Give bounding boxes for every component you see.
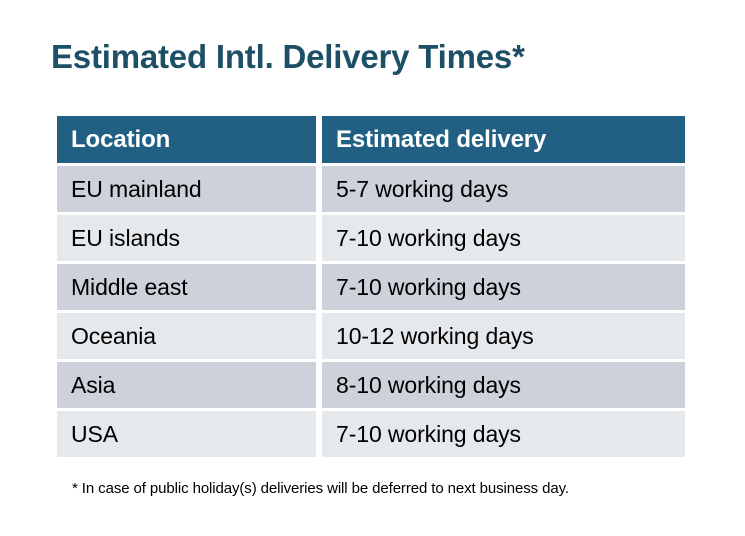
column-header-estimated-delivery: Estimated delivery — [322, 116, 685, 163]
cell-delivery: 10-12 working days — [322, 313, 685, 359]
cell-location: Asia — [57, 362, 316, 408]
table-row: Oceania 10-12 working days — [57, 313, 685, 359]
table-row: EU mainland 5-7 working days — [57, 166, 685, 212]
cell-location: EU islands — [57, 215, 316, 261]
table-row: EU islands 7-10 working days — [57, 215, 685, 261]
table-row: Asia 8-10 working days — [57, 362, 685, 408]
cell-location: Middle east — [57, 264, 316, 310]
footnote-text: * In case of public holiday(s) deliverie… — [72, 480, 569, 497]
table-row: Middle east 7-10 working days — [57, 264, 685, 310]
page-title: Estimated Intl. Delivery Times* — [51, 38, 525, 76]
cell-location: EU mainland — [57, 166, 316, 212]
column-header-location: Location — [57, 116, 316, 163]
cell-delivery: 5-7 working days — [322, 166, 685, 212]
table-header: Location Estimated delivery — [57, 116, 685, 163]
cell-delivery: 8-10 working days — [322, 362, 685, 408]
table-body: EU mainland 5-7 working days EU islands … — [57, 166, 685, 457]
cell-delivery: 7-10 working days — [322, 215, 685, 261]
cell-location: Oceania — [57, 313, 316, 359]
table-row: USA 7-10 working days — [57, 411, 685, 457]
cell-delivery: 7-10 working days — [322, 411, 685, 457]
estimated-delivery-times-table: Location Estimated delivery EU mainland … — [51, 113, 691, 460]
cell-location: USA — [57, 411, 316, 457]
table-header-row: Location Estimated delivery — [57, 116, 685, 163]
cell-delivery: 7-10 working days — [322, 264, 685, 310]
delivery-times-panel: Estimated Intl. Delivery Times* Location… — [0, 0, 745, 536]
